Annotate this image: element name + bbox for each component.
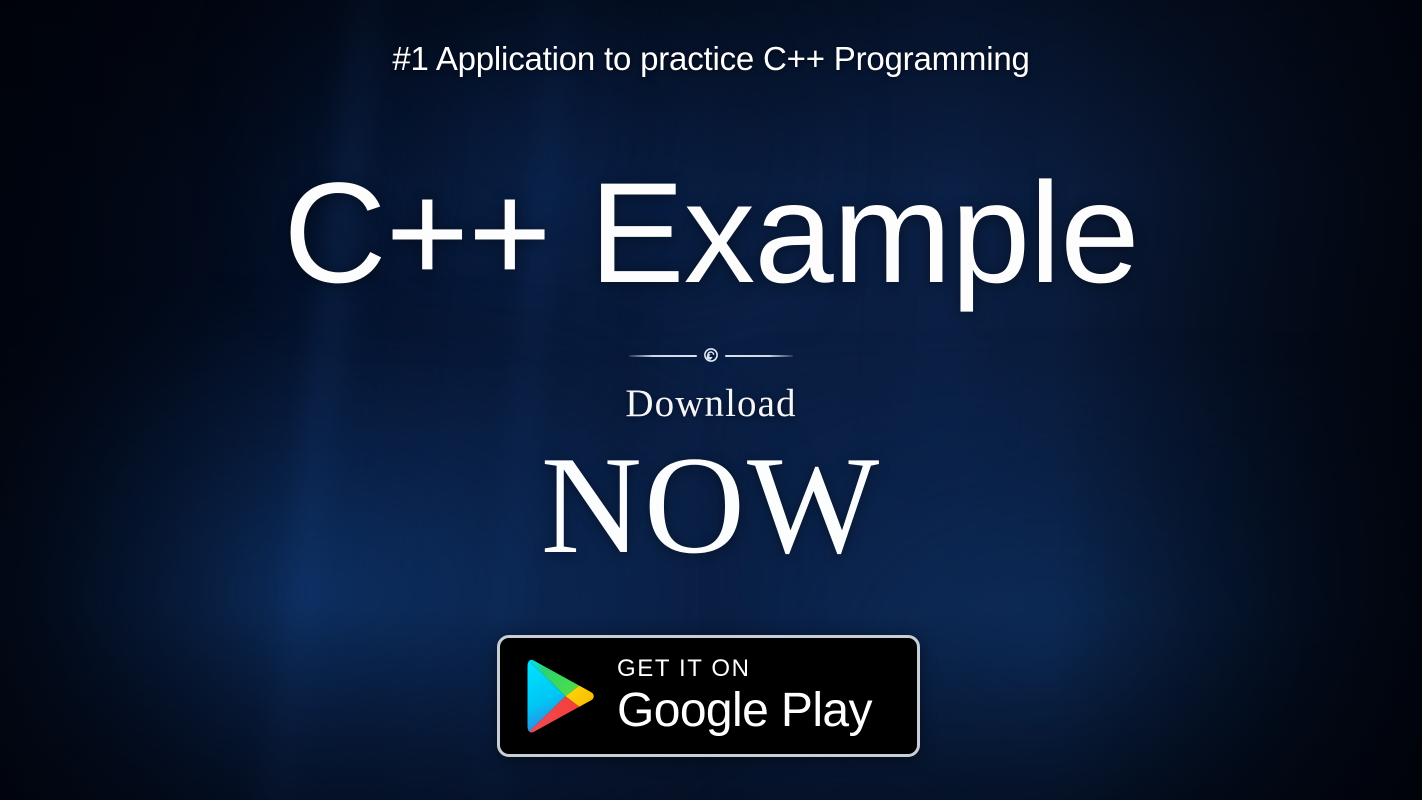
spiral-ornament-icon xyxy=(702,346,720,364)
tagline: #1 Application to practice C++ Programmi… xyxy=(392,40,1029,78)
google-play-triangle-icon xyxy=(523,656,597,736)
badge-text-block: GET IT ON Google Play xyxy=(617,656,872,737)
ornamental-divider xyxy=(629,346,793,364)
cta-now-label: NOW xyxy=(541,432,881,580)
divider-rule-left xyxy=(629,355,697,357)
divider-rule-right xyxy=(725,355,793,357)
promo-banner: #1 Application to practice C++ Programmi… xyxy=(0,0,1422,800)
page-title: C++ Example xyxy=(283,162,1138,305)
badge-eyebrow-label: GET IT ON xyxy=(617,656,872,683)
google-play-badge[interactable]: GET IT ON Google Play xyxy=(497,635,920,757)
badge-wordmark-label: Google Play xyxy=(617,685,872,737)
cta-download-label: Download xyxy=(625,381,796,426)
